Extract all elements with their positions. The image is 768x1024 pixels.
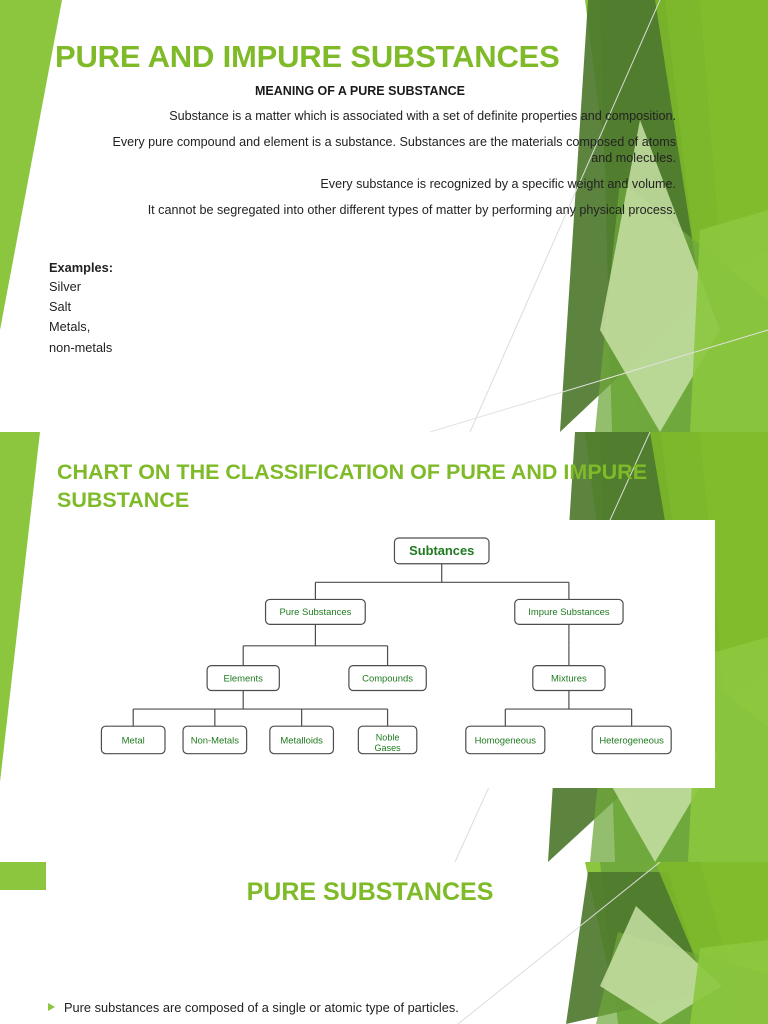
example-item: Salt [49, 301, 349, 314]
svg-text:Non-Metals: Non-Metals [191, 735, 240, 746]
diagram-node-metalloids: Metalloids [270, 726, 334, 754]
diagram-node-metal: Metal [101, 726, 165, 754]
example-item: Silver [49, 281, 349, 294]
slide1-subtitle: MEANING OF A PURE SUBSTANCE [60, 84, 660, 98]
diagram-node-nonmetals: Non-Metals [183, 726, 247, 754]
diagram-node-heterogeneous: Heterogeneous [592, 726, 671, 754]
diagram-node-noblegases: NobleGases [358, 726, 416, 754]
slide1-paragraph: It cannot be segregated into other diffe… [88, 202, 676, 219]
slide-classification-chart: CHART ON THE CLASSIFICATION OF PURE AND … [0, 432, 768, 862]
svg-text:Elements: Elements [224, 673, 264, 684]
slide3-title: PURE SUBSTANCES [60, 878, 680, 907]
svg-text:Gases: Gases [375, 743, 402, 753]
svg-text:Impure Substances: Impure Substances [528, 607, 610, 618]
example-item: non-metals [49, 342, 349, 355]
examples-heading: Examples: [49, 262, 349, 275]
bullet-item: Pure substances are composed of a single… [48, 1000, 688, 1015]
svg-text:Heterogeneous: Heterogeneous [599, 735, 664, 746]
diagram-node-impure: Impure Substances [515, 599, 623, 624]
svg-text:Homogeneous: Homogeneous [475, 735, 537, 746]
diagram-node-homogeneous: Homogeneous [466, 726, 545, 754]
triangle-bullet-icon [48, 1003, 55, 1011]
svg-text:Mixtures: Mixtures [551, 673, 587, 684]
slide-pure-substances: PURE SUBSTANCES Pure substances are comp… [0, 862, 768, 1024]
svg-text:Compounds: Compounds [362, 673, 413, 684]
diagram-node-root: Subtances [394, 538, 489, 564]
svg-text:Metalloids: Metalloids [280, 735, 323, 746]
classification-diagram: SubtancesPure SubstancesImpure Substance… [55, 520, 715, 788]
presentation-deck: PURE AND IMPURE SUBSTANCES MEANING OF A … [0, 0, 768, 1024]
svg-text:Noble: Noble [376, 733, 400, 743]
svg-text:Metal: Metal [122, 735, 145, 746]
svg-text:Pure Substances: Pure Substances [279, 607, 351, 618]
slide-pure-and-impure-substances: PURE AND IMPURE SUBSTANCES MEANING OF A … [0, 0, 768, 432]
slide2-title: CHART ON THE CLASSIFICATION OF PURE AND … [57, 458, 657, 515]
example-item: Metals, [49, 321, 349, 334]
diagram-node-compounds: Compounds [349, 666, 426, 691]
diagram-node-elements: Elements [207, 666, 279, 691]
diagram-node-mixtures: Mixtures [533, 666, 605, 691]
slide1-title: PURE AND IMPURE SUBSTANCES [55, 40, 655, 74]
slide1-paragraph: Every pure compound and element is a sub… [88, 134, 676, 167]
slide1-paragraph: Substance is a matter which is associate… [88, 108, 676, 125]
svg-text:Subtances: Subtances [409, 543, 474, 558]
slide1-paragraph: Every substance is recognized by a speci… [88, 176, 676, 193]
slide1-examples-block: Examples: Silver Salt Metals, non-metals [49, 262, 349, 362]
slide1-body: Substance is a matter which is associate… [88, 108, 676, 228]
bullet-text: Pure substances are composed of a single… [64, 1000, 459, 1015]
diagram-node-pure: Pure Substances [266, 599, 366, 624]
